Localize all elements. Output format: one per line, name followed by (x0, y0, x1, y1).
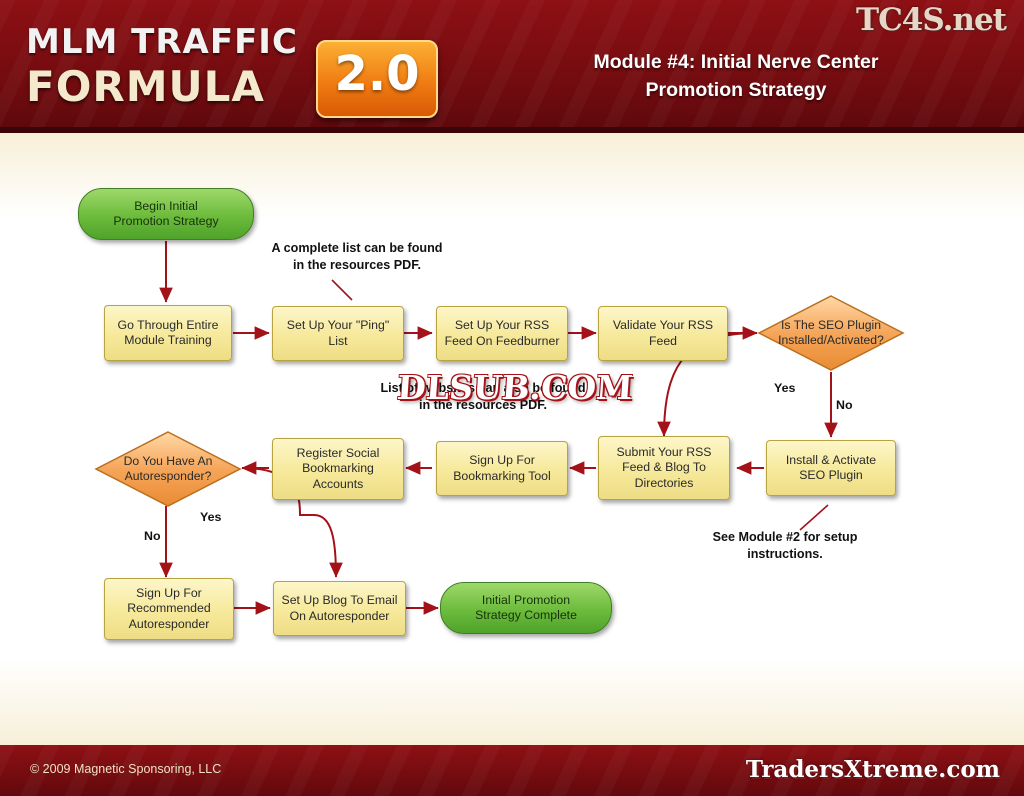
brand-version-badge: 2.0 (316, 40, 438, 118)
node-autoresponder-label-wrap: Do You Have An Autoresponder? (94, 430, 242, 508)
node-register-social-label: Register Social Bookmarking Accounts (293, 446, 384, 493)
note-ping-list: A complete list can be found in the reso… (252, 240, 462, 274)
edge-label-seo-no: No (836, 398, 853, 412)
slide-header: MLM TRAFFIC FORMULA 2.0 Module #4: Initi… (0, 0, 1024, 133)
node-begin-label: Begin Initial Promotion Strategy (109, 199, 222, 230)
edge-label-autoresponder-yes: Yes (200, 510, 221, 524)
module-title-line1: Module #4: Initial Nerve Center (476, 48, 996, 76)
note-module-2: See Module #2 for setup instructions. (690, 529, 880, 563)
node-submit-rss-feed-directories[interactable]: Submit Your RSS Feed & Blog To Directori… (598, 436, 730, 500)
node-register-social-bookmarking-accounts[interactable]: Register Social Bookmarking Accounts (272, 438, 404, 500)
node-seo-plugin-label-wrap: Is The SEO Plugin Installed/Activated? (757, 294, 905, 372)
node-ping-list-label: Set Up Your "Ping" List (283, 318, 393, 349)
node-sign-up-recommended-autoresponder[interactable]: Sign Up For Recommended Autoresponder (104, 578, 234, 640)
node-set-up-ping-list[interactable]: Set Up Your "Ping" List (272, 306, 404, 361)
node-install-activate-seo-plugin[interactable]: Install & Activate SEO Plugin (766, 440, 896, 496)
node-validate-label: Validate Your RSS Feed (609, 318, 717, 349)
node-submit-rss-label: Submit Your RSS Feed & Blog To Directori… (612, 445, 715, 492)
edge-label-autoresponder-no: No (144, 529, 161, 543)
site-watermark: TradersXtreme.com (746, 756, 1000, 783)
brand-logo: MLM TRAFFIC FORMULA 2.0 (26, 22, 426, 114)
node-initial-promotion-strategy-complete[interactable]: Initial Promotion Strategy Complete (440, 582, 612, 634)
node-set-up-blog-to-email[interactable]: Set Up Blog To Email On Autoresponder (273, 581, 406, 636)
node-go-through-module-training[interactable]: Go Through Entire Module Training (104, 305, 232, 361)
node-validate-rss-feed[interactable]: Validate Your RSS Feed (598, 306, 728, 361)
module-title-line2: Promotion Strategy (476, 76, 996, 104)
corner-watermark: TC4S.net (856, 2, 1006, 38)
node-feedburner-label: Set Up Your RSS Feed On Feedburner (441, 318, 564, 349)
edge-label-seo-yes: Yes (774, 381, 795, 395)
module-title: Module #4: Initial Nerve Center Promotio… (476, 48, 996, 104)
copyright-text: © 2009 Magnetic Sponsoring, LLC (30, 762, 221, 776)
brand-logo-line1: MLM TRAFFIC (26, 22, 298, 62)
node-module-training-label: Go Through Entire Module Training (114, 318, 223, 349)
node-signup-autoresponder-label: Sign Up For Recommended Autoresponder (123, 586, 214, 633)
brand-version-text: 2.0 (318, 46, 436, 102)
slide-page: MLM TRAFFIC FORMULA 2.0 Module #4: Initi… (0, 0, 1024, 796)
node-blog-to-email-label: Set Up Blog To Email On Autoresponder (278, 593, 402, 624)
node-seo-plugin-question[interactable]: Is The SEO Plugin Installed/Activated? (757, 294, 905, 372)
node-autoresponder-question[interactable]: Do You Have An Autoresponder? (94, 430, 242, 508)
node-seo-plugin-label: Is The SEO Plugin Installed/Activated? (778, 318, 884, 349)
node-autoresponder-label: Do You Have An Autoresponder? (124, 454, 213, 485)
dlsub-watermark: DLSUB.COM (369, 367, 662, 409)
node-complete-label: Initial Promotion Strategy Complete (471, 593, 581, 624)
node-sign-up-bookmarking-tool[interactable]: Sign Up For Bookmarking Tool (436, 441, 568, 496)
node-set-up-rss-feed-feedburner[interactable]: Set Up Your RSS Feed On Feedburner (436, 306, 568, 361)
node-begin-initial-promotion-strategy[interactable]: Begin Initial Promotion Strategy (78, 188, 254, 240)
node-install-seo-label: Install & Activate SEO Plugin (782, 453, 880, 484)
brand-logo-line2: FORMULA (26, 62, 265, 111)
node-bookmarking-tool-label: Sign Up For Bookmarking Tool (449, 453, 555, 484)
